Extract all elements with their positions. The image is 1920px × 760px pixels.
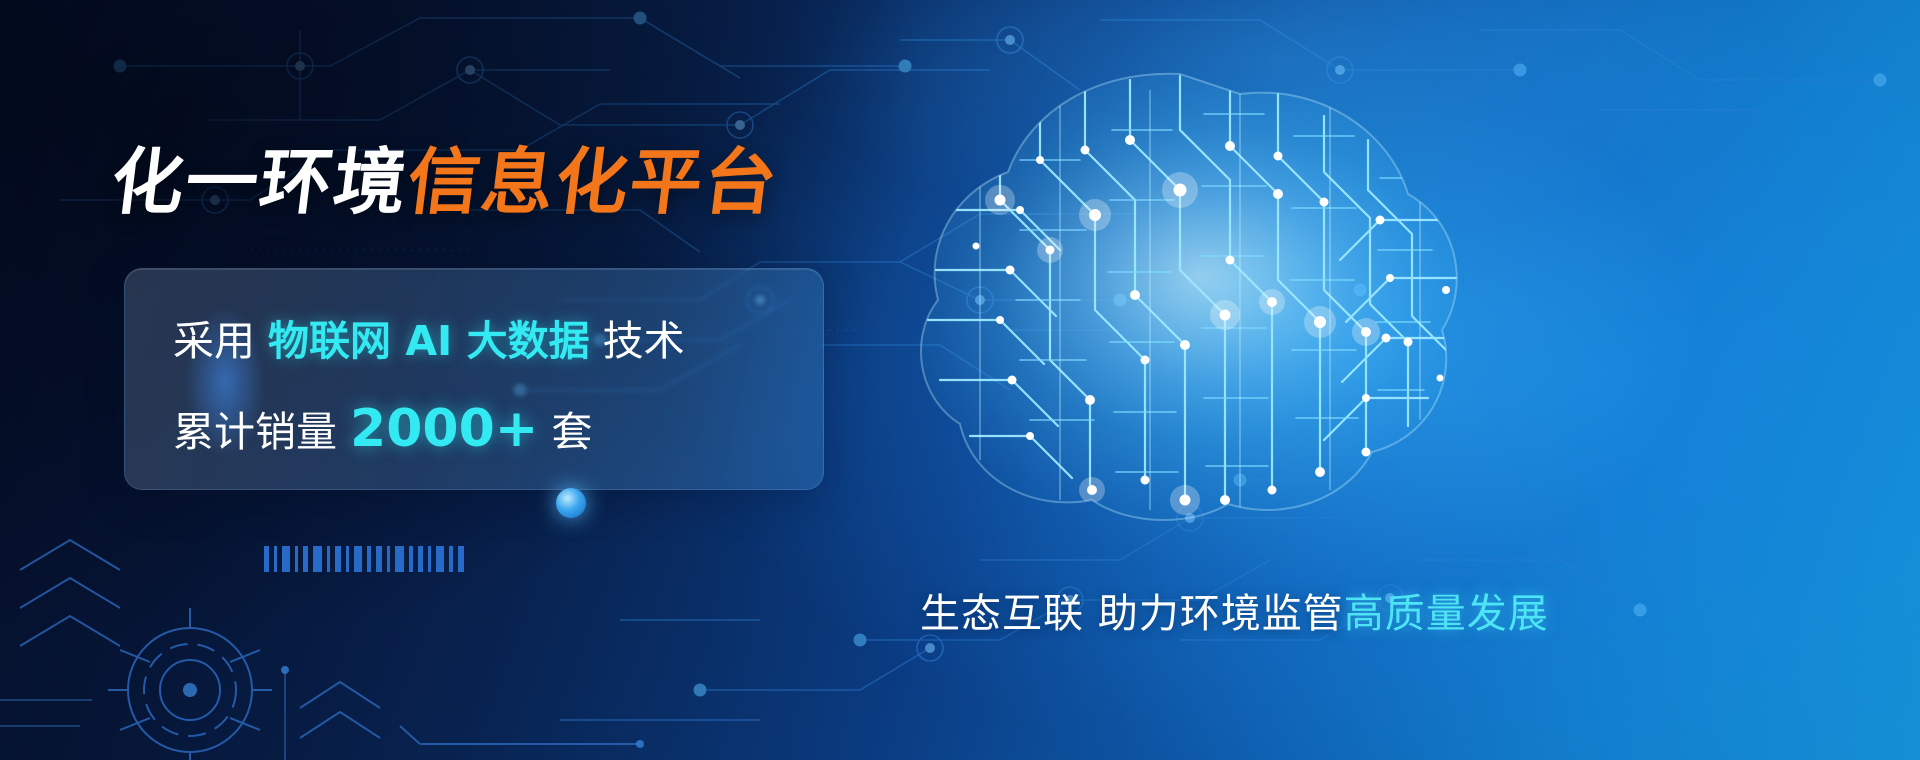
card-line1-highlight: 物联网 AI 大数据 [268,317,590,365]
card-line-2: 累计销量 2000+ 套 [173,403,592,455]
card-line-1: 采用 物联网 AI 大数据 技术 [173,321,685,362]
card-line2-prefix: 累计销量 [173,408,337,456]
tagline: 生态互联 助力环境监管高质量发展 [920,594,1549,634]
tagline-part-white: 生态互联 助力环境监管 [920,591,1344,637]
glowing-node-dot [556,488,586,518]
banner-root: 化一环境信息化平台 采用 物联网 AI 大数据 技术 累计销量 2000+ 套 … [0,0,1920,760]
page-title: 化一环境信息化平台 [108,146,783,218]
barcode-decoration [264,546,474,572]
card-line1-suffix: 技术 [603,317,685,365]
card-line2-suffix: 套 [551,408,592,456]
title-part-orange: 信息化平台 [403,140,783,224]
tech-hud-decoration [0,530,760,760]
title-part-white: 化一环境 [107,140,413,224]
card-line1-prefix: 采用 [173,317,255,365]
brain-glow [930,95,1490,495]
tagline-part-cyan: 高质量发展 [1344,591,1549,637]
card-line2-number: 2000+ [350,399,538,459]
ai-brain-circuit-illustration [880,60,1520,530]
info-card: 采用 物联网 AI 大数据 技术 累计销量 2000+ 套 [124,268,824,490]
